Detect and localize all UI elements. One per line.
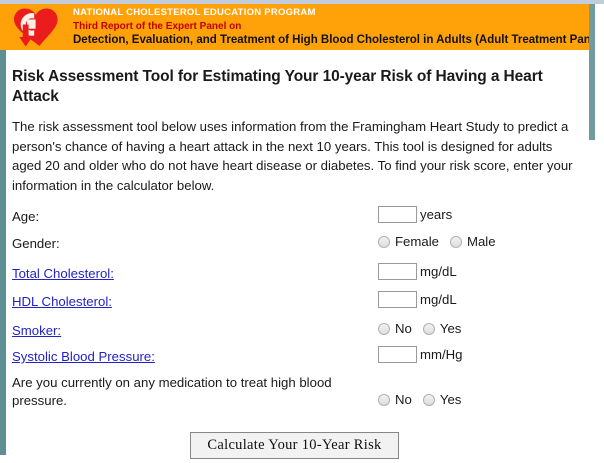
gender-radio-male-label: Male	[467, 232, 496, 251]
radio-icon[interactable]	[423, 323, 435, 335]
smoker-radio-no-label: No	[395, 319, 412, 338]
total-cholesterol-input[interactable]	[378, 263, 417, 280]
total-cholesterol-unit-label: mg/dL	[420, 262, 457, 281]
form-row-gender: Gender: Female Male	[12, 232, 589, 255]
hdl-cholesterol-label-cell: HDL Cholesterol:	[12, 290, 378, 311]
smoker-radio-yes-label: Yes	[440, 319, 462, 338]
right-rail	[589, 4, 595, 140]
medication-radio-no[interactable]: No	[378, 390, 412, 409]
radio-icon[interactable]	[378, 323, 390, 335]
systolic-blood-pressure-link[interactable]: Systolic Blood Pressure:	[12, 349, 155, 364]
hdl-cholesterol-field-group: mg/dL	[378, 290, 589, 309]
systolic-blood-pressure-label-cell: Systolic Blood Pressure:	[12, 345, 378, 366]
form-row-age: Age: years	[12, 205, 589, 228]
submit-bar: Calculate Your 10-Year Risk	[12, 432, 589, 459]
form-row-hdl-cholesterol: HDL Cholesterol: mg/dL	[12, 290, 589, 313]
smoker-radio-yes[interactable]: Yes	[423, 319, 462, 338]
smoker-label-cell: Smoker:	[12, 319, 378, 340]
gender-radio-female[interactable]: Female	[378, 232, 439, 251]
hdl-cholesterol-link[interactable]: HDL Cholesterol:	[12, 294, 112, 309]
form-row-total-cholesterol: Total Cholesterol: mg/dL	[12, 262, 589, 285]
medication-field-group: No Yes	[378, 374, 589, 409]
gender-radio-female-label: Female	[395, 232, 439, 251]
gender-field-group: Female Male	[378, 232, 589, 251]
heart-with-c-and-down-arrow-icon	[8, 4, 70, 50]
medication-radio-group: No Yes	[378, 390, 461, 409]
smoker-link[interactable]: Smoker:	[12, 323, 61, 338]
age-label: Age:	[12, 205, 378, 226]
systolic-blood-pressure-unit-label: mm/Hg	[420, 345, 463, 364]
total-cholesterol-label-cell: Total Cholesterol:	[12, 262, 378, 283]
medication-radio-yes-label: Yes	[440, 390, 462, 409]
banner-text-block: NATIONAL CHOLESTEROL EDUCATION PROGRAM T…	[73, 7, 589, 47]
radio-icon[interactable]	[378, 236, 390, 248]
smoker-field-group: No Yes	[378, 319, 589, 338]
ncep-banner: NATIONAL CHOLESTEROL EDUCATION PROGRAM T…	[0, 4, 589, 50]
page-content: Risk Assessment Tool for Estimating Your…	[6, 50, 589, 459]
intro-paragraph: The risk assessment tool below uses info…	[6, 107, 589, 195]
age-field-group: years	[378, 205, 589, 224]
gender-radio-male[interactable]: Male	[450, 232, 496, 251]
age-unit-label: years	[420, 205, 452, 224]
medication-radio-yes[interactable]: Yes	[423, 390, 462, 409]
banner-report-title: Detection, Evaluation, and Treatment of …	[73, 33, 589, 47]
radio-icon[interactable]	[423, 394, 435, 406]
hdl-cholesterol-input[interactable]	[378, 291, 417, 308]
total-cholesterol-field-group: mg/dL	[378, 262, 589, 281]
smoker-radio-group: No Yes	[378, 319, 461, 338]
banner-program-name: NATIONAL CHOLESTEROL EDUCATION PROGRAM	[73, 7, 589, 19]
smoker-radio-no[interactable]: No	[378, 319, 412, 338]
medication-question-label: Are you currently on any medication to t…	[12, 374, 378, 409]
total-cholesterol-link[interactable]: Total Cholesterol:	[12, 266, 114, 281]
calculate-risk-button[interactable]: Calculate Your 10-Year Risk	[190, 432, 398, 459]
radio-icon[interactable]	[378, 394, 390, 406]
form-row-smoker: Smoker: No Yes	[12, 319, 589, 342]
age-input[interactable]	[378, 206, 417, 223]
form-row-medication: Are you currently on any medication to t…	[12, 374, 589, 409]
page-title: Risk Assessment Tool for Estimating Your…	[6, 50, 589, 107]
systolic-blood-pressure-field-group: mm/Hg	[378, 345, 589, 364]
radio-icon[interactable]	[450, 236, 462, 248]
medication-radio-no-label: No	[395, 390, 412, 409]
banner-report-subtitle: Third Report of the Expert Panel on	[73, 20, 589, 33]
gender-label: Gender:	[12, 232, 378, 253]
risk-calculator-form: Age: years Gender: Female Male	[6, 205, 589, 459]
form-row-systolic-blood-pressure: Systolic Blood Pressure: mm/Hg	[12, 345, 589, 368]
hdl-cholesterol-unit-label: mg/dL	[420, 290, 457, 309]
systolic-blood-pressure-input[interactable]	[378, 346, 417, 363]
gender-radio-group: Female Male	[378, 232, 496, 251]
